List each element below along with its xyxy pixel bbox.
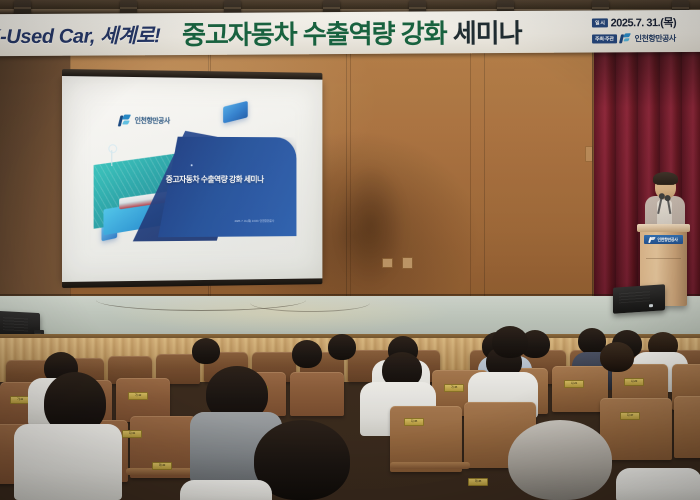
wall-seam <box>470 50 471 308</box>
banner-org-chip: 주최·주관 <box>592 34 617 43</box>
attendee-head <box>492 326 528 358</box>
banner-info-block: 일 시 2025.7. 31.(목) 주최·주관 인천항만공사 <box>592 12 700 51</box>
banner-org-value: 인천항만공사 <box>635 33 676 44</box>
stage-monitor-speaker <box>613 284 665 314</box>
seat-number-plate: 가-15 <box>444 384 464 392</box>
attendee-torso-foreground <box>616 468 700 500</box>
banner-title-alt: 세미나 <box>446 18 521 48</box>
event-banner: K-Used Car, 세계로! 중고자동차 수출역량 강화 세미나 일 시 2… <box>0 10 700 56</box>
wall-outlet-icon <box>382 258 393 268</box>
podium-plate-text: 인천항만공사 <box>657 237 677 243</box>
podium-logo-plate: 인천항만공사 <box>644 235 683 244</box>
attendee-head-foreground-grey <box>508 420 612 500</box>
slide-footnote: 2025. 7. 31.(목) 14:00 / 인천항만공사 <box>235 219 275 223</box>
banner-date-chip: 일 시 <box>592 18 608 27</box>
projected-shadow <box>330 150 412 300</box>
seat-armrest <box>390 462 470 469</box>
slide-ipa-logo: 인천항만공사 <box>119 115 170 128</box>
attendee-paper <box>180 480 272 500</box>
ipa-mark-icon <box>620 33 631 44</box>
decor-cube <box>223 101 248 124</box>
slide-content: 인천항만공사 중고자동차 수출역량 강화 세미나 2025. 7. 31.(목)… <box>90 96 297 263</box>
slide-ring-graphic <box>108 144 117 153</box>
podium-seam <box>646 258 681 259</box>
banner-date-value: 2025.7. 31.(목) <box>611 14 677 30</box>
slide-title: 중고자동차 수출역량 강화 세미나 <box>166 174 295 185</box>
seat-number-plate: 나-23 <box>624 378 644 386</box>
attendee-head <box>192 338 220 364</box>
seat-number-plate: 가-11 <box>10 396 30 404</box>
seat-number-plate: 다-37 <box>620 412 640 420</box>
auditorium-seat <box>290 372 344 416</box>
seat-number-plate: 가-12 <box>128 392 148 400</box>
banner-slogan: K-Used Car, 세계로! <box>0 19 160 49</box>
slide-dot <box>191 164 193 166</box>
seat-number-plate: 다-35 <box>404 418 424 426</box>
banner-title-main: 중고자동차 수출역량 강화 <box>182 18 447 50</box>
seat-number-plate: 다-31 <box>122 430 142 438</box>
seat-number-plate: 라-45 <box>468 478 488 486</box>
auditorium-seat <box>674 396 700 458</box>
attendee-head <box>292 340 322 368</box>
slide-title-panel <box>158 137 296 238</box>
projection-screen: 인천항만공사 중고자동차 수출역량 강화 세미나 2025. 7. 31.(목)… <box>62 76 322 282</box>
attendee-torso-foreground <box>14 424 122 500</box>
ipa-mark-icon <box>119 115 132 128</box>
presenter-glasses-icon <box>657 184 674 189</box>
auditorium-photo: 인천항만공사 중고자동차 수출역량 강화 세미나 2025. 7. 31.(목)… <box>0 0 700 500</box>
slide-logo-text: 인천항만공사 <box>135 118 170 125</box>
ipa-mark-icon <box>649 237 655 243</box>
podium-top <box>637 224 690 232</box>
attendee-head <box>600 342 634 372</box>
seat-number-plate: 나-21 <box>564 380 584 388</box>
screen-surface: 인천항만공사 중고자동차 수출역량 강화 세미나 2025. 7. 31.(목)… <box>62 76 322 282</box>
banner-title: 중고자동차 수출역량 강화 세미나 <box>182 13 522 52</box>
wall-outlet-icon <box>402 257 413 269</box>
attendee-head <box>328 334 356 360</box>
seat-number-plate: 라-43 <box>152 462 172 470</box>
